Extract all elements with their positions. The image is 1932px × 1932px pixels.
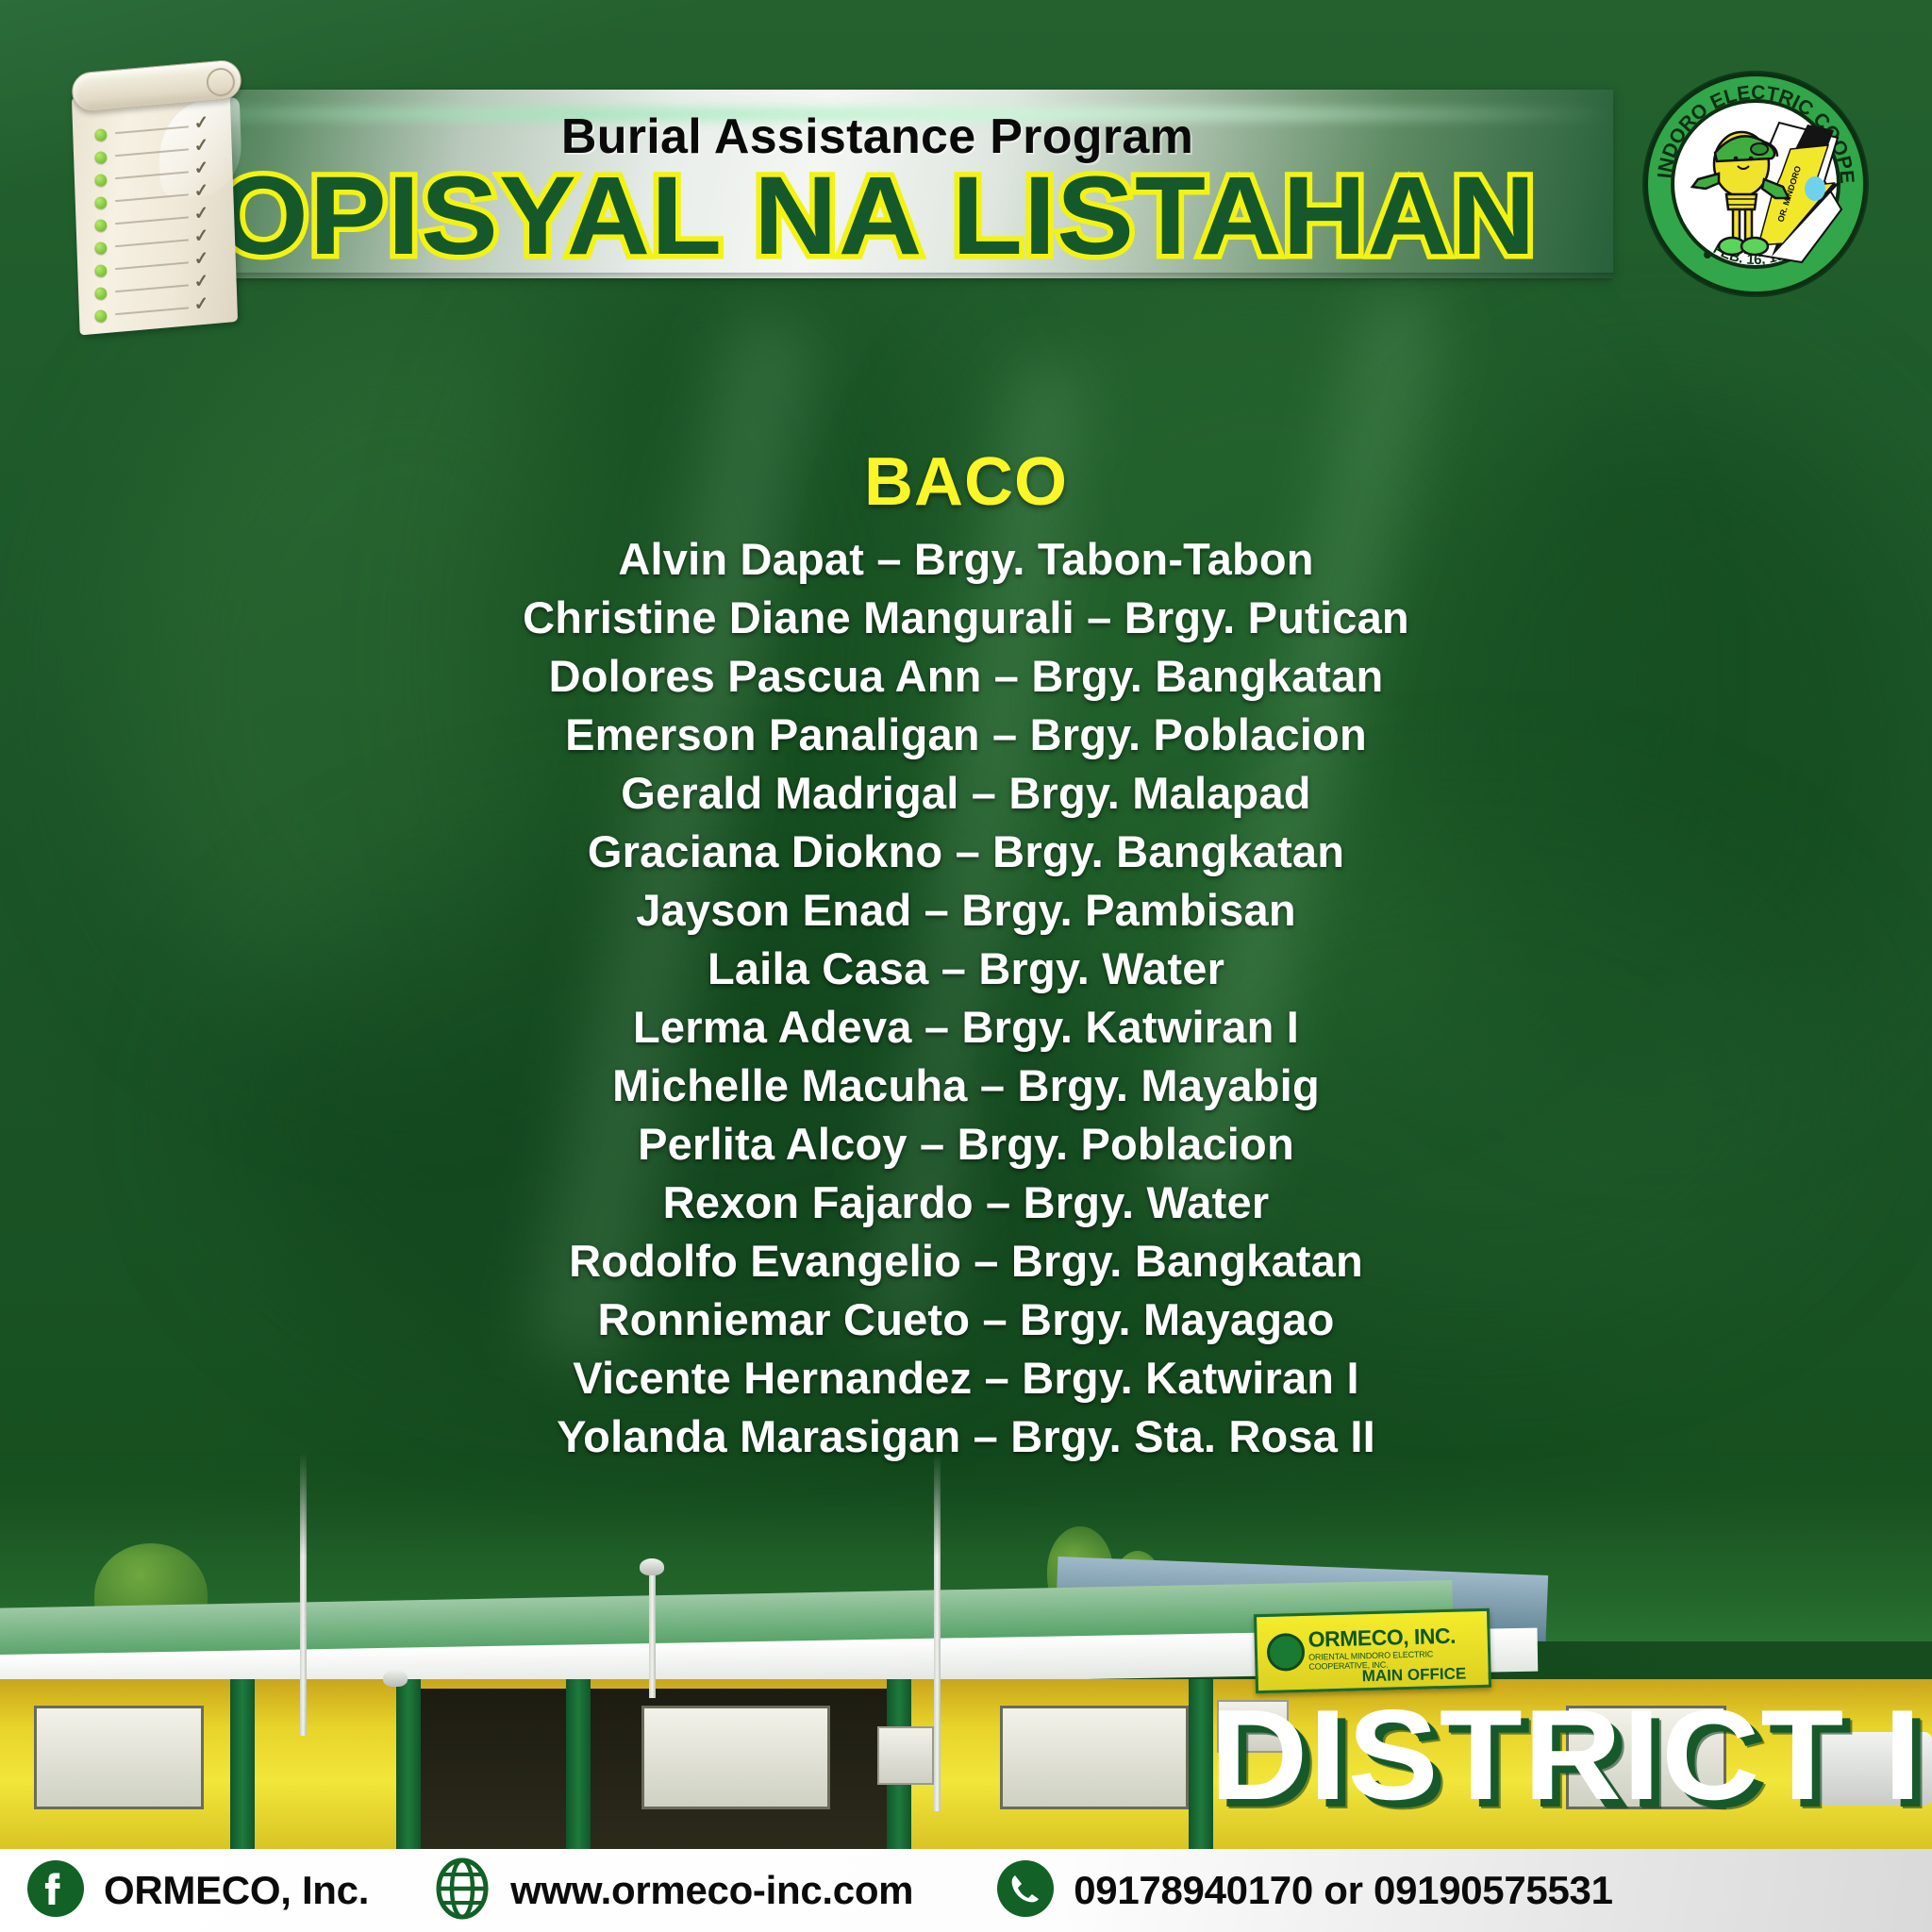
checklist-scroll-icon: ✓ ✓ ✓ ✓ ✓ ✓ ✓ (45, 49, 262, 332)
footer-contact-bar: ORMECO, Inc. www.ormeco-inc.com (0, 1849, 1932, 1932)
photo-window (1000, 1706, 1189, 1809)
photo-lamp (383, 1670, 408, 1687)
text-line (115, 171, 189, 179)
beneficiary-row: Perlita Alcoy – Brgy. Poblacion (0, 1115, 1932, 1174)
photo-window (641, 1706, 830, 1809)
photo-lamp (640, 1558, 664, 1575)
photo-pole (934, 1453, 941, 1811)
photo-column (230, 1679, 255, 1849)
sign-title: ORMECO, INC. (1307, 1624, 1456, 1653)
header-banner: Burial Assistance Program OPISYAL NA LIS… (142, 90, 1613, 278)
beneficiary-row: Emerson Panaligan – Brgy. Poblacion (0, 706, 1932, 764)
check-icon: ✓ (193, 205, 212, 224)
bullet-dot (94, 128, 108, 142)
check-icon: ✓ (193, 114, 212, 133)
banner-title: OPISYAL NA LISTAHAN (112, 159, 1642, 273)
beneficiary-row: Laila Casa – Brgy. Water (0, 940, 1932, 998)
facebook-icon (26, 1859, 85, 1923)
beneficiary-row: Rodolfo Evangelio – Brgy. Bangkatan (0, 1232, 1932, 1291)
bullet-dot (94, 151, 108, 164)
text-line (115, 148, 189, 157)
facebook-label: ORMECO, Inc. (104, 1868, 369, 1913)
beneficiary-row: Vicente Hernandez – Brgy. Katwiran I (0, 1349, 1932, 1407)
text-line (115, 261, 189, 270)
footer-website-item[interactable]: www.ormeco-inc.com (433, 1857, 913, 1924)
photo-column (566, 1679, 591, 1849)
ormeco-logo: ORIENTAL MINDORO ELECTRIC COOPERATIVE, I… (1640, 68, 1872, 300)
beneficiary-row: Jayson Enad – Brgy. Pambisan (0, 881, 1932, 940)
beneficiary-row: Michelle Macuha – Brgy. Mayabig (0, 1057, 1932, 1115)
beneficiary-row: Dolores Pascua Ann – Brgy. Bangkatan (0, 647, 1932, 706)
beneficiary-row: Graciana Diokno – Brgy. Bangkatan (0, 823, 1932, 881)
bullet-dot (94, 287, 108, 300)
check-icon: ✓ (193, 295, 212, 314)
photo-column (396, 1679, 421, 1849)
check-icon: ✓ (193, 250, 212, 269)
beneficiary-row: Lerma Adeva – Brgy. Katwiran I (0, 998, 1932, 1057)
photo-ac-unit (877, 1726, 934, 1785)
text-line (115, 216, 189, 225)
bullet-dot (94, 219, 108, 232)
globe-icon (433, 1857, 491, 1924)
check-icon: ✓ (193, 159, 212, 178)
poster-canvas: Burial Assistance Program OPISYAL NA LIS… (0, 0, 1932, 1932)
municipality-title: BACO (0, 443, 1932, 521)
beneficiary-list-section: BACO Alvin Dapat – Brgy. Tabon-TabonChri… (0, 443, 1932, 1466)
photo-window (34, 1706, 204, 1809)
photo-pole (300, 1453, 307, 1736)
district-label: DISTRICT I (1210, 1681, 1923, 1828)
footer-phone-item[interactable]: 09178940170 or 09190575531 (996, 1859, 1612, 1923)
phone-icon (996, 1859, 1055, 1923)
text-line (115, 239, 189, 247)
beneficiary-row: Gerald Madrigal – Brgy. Malapad (0, 764, 1932, 823)
bullet-dot (94, 264, 108, 277)
check-icon: ✓ (193, 182, 212, 201)
text-line (115, 125, 189, 134)
text-line (115, 284, 189, 292)
beneficiary-row: Ronniemar Cueto – Brgy. Mayagao (0, 1291, 1932, 1349)
beneficiary-list: Alvin Dapat – Brgy. Tabon-TabonChristine… (0, 530, 1932, 1466)
website-label: www.ormeco-inc.com (510, 1868, 913, 1913)
sign-seal-icon (1266, 1633, 1305, 1672)
check-icon: ✓ (193, 137, 212, 156)
beneficiary-row: Christine Diane Mangurali – Brgy. Putica… (0, 589, 1932, 647)
bullet-dot (94, 309, 108, 323)
check-icon: ✓ (193, 227, 212, 246)
bullet-dot (94, 196, 108, 209)
text-line (115, 307, 189, 315)
bullet-dot (94, 174, 108, 187)
beneficiary-row: Rexon Fajardo – Brgy. Water (0, 1174, 1932, 1232)
text-line (115, 193, 189, 202)
bullet-dot (94, 241, 108, 255)
footer-facebook-item[interactable]: ORMECO, Inc. (26, 1859, 369, 1923)
beneficiary-row: Alvin Dapat – Brgy. Tabon-Tabon (0, 530, 1932, 589)
check-icon: ✓ (193, 273, 212, 291)
photo-pole (649, 1566, 656, 1698)
phone-label: 09178940170 or 09190575531 (1074, 1868, 1612, 1913)
